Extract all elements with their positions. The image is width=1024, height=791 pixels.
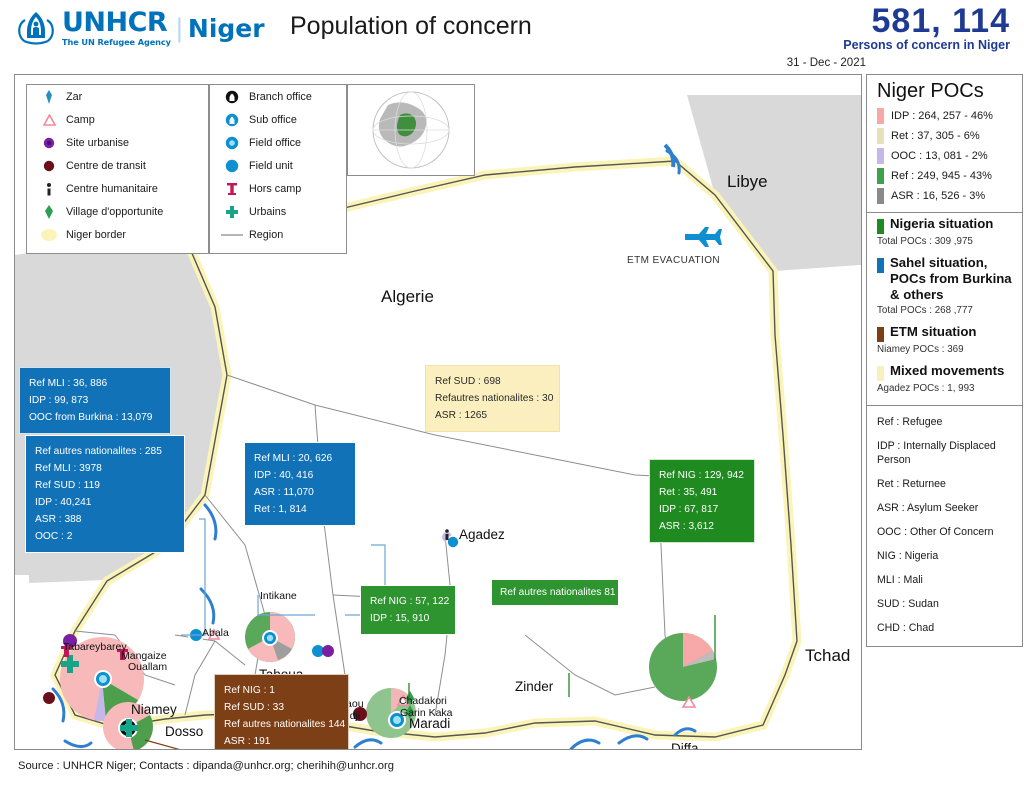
situation-swatch [877, 219, 884, 234]
city-label-dosso: Dosso [165, 724, 203, 739]
legend-label: Centre humanitaire [66, 183, 158, 195]
callout-line: OOC from Burkina : 13,079 [29, 409, 161, 426]
legend-item-branch-office: Branch office [210, 85, 346, 108]
logo-org-text: UNHCR [62, 9, 171, 36]
abbreviation-ret: Ret : Returnee [867, 472, 1022, 496]
legend-item-sub-office: Sub office [210, 108, 346, 131]
branch-office-icon [221, 90, 243, 104]
humanitarian-dot-icon [38, 182, 60, 196]
callout-line: Ref autres nationalites 144 [224, 716, 339, 733]
situation-swatch [877, 327, 884, 342]
camp-triangle-icon [38, 114, 60, 126]
city-label-garin-kaka: Garin Kaka [400, 707, 453, 719]
poc-swatch [877, 108, 884, 124]
callout-line: Ret : 35, 491 [659, 484, 745, 501]
situation-sahel: Sahel situation, POCs from Burkina & oth… [867, 252, 1022, 303]
page-title: Population of concern [290, 12, 532, 41]
poc-swatch [877, 148, 884, 164]
total-poc-number: 581, 114 [872, 2, 1010, 41]
city-label-niamey: Niamey [131, 702, 177, 717]
abbreviation-nig: NIG : Nigeria [867, 544, 1022, 568]
situation-label: Mixed movements [890, 363, 1004, 379]
poc-row-ooc: OOC : 13, 081 - 2% [867, 146, 1022, 166]
callout-line: ASR : 1265 [435, 407, 550, 424]
poc-row-asr: ASR : 16, 526 - 3% [867, 186, 1022, 206]
legend-label: Urbains [249, 206, 286, 218]
situation-swatch [877, 258, 884, 273]
legend-item-region: Region [210, 223, 346, 246]
situation-total: Total POCs : 309 ,975 [867, 234, 1022, 252]
situation-label: ETM situation [890, 324, 976, 340]
pin-marker-icon [38, 90, 60, 104]
sub-office-icon [221, 113, 243, 127]
callout-line: ASR : 11,070 [254, 484, 346, 501]
legend-label: Field unit [249, 160, 293, 172]
callout-line: Refautres nationalites : 30 [435, 390, 550, 407]
callout-line: Ret : 1, 814 [254, 501, 346, 518]
region-line-icon [221, 232, 243, 238]
callout-line: IDP : 67, 817 [659, 501, 745, 518]
callout-line: ASR : 3,612 [659, 518, 745, 535]
callout-line: Ref NIG : 57, 122 [370, 593, 446, 610]
callout-tahoua[interactable]: Ref MLI : 20, 626 IDP : 40, 416 ASR : 11… [244, 442, 356, 526]
city-label-zinder: Zinder [515, 679, 553, 694]
abbreviation-ooc: OOC : Other Of Concern [867, 520, 1022, 544]
legend-column-a: Zar Camp Site urbanise Centre de transit… [26, 84, 209, 254]
abbreviation-idp: IDP : Internally Displaced Person [867, 434, 1022, 472]
legend-label: Region [249, 229, 283, 241]
callout-maradi[interactable]: Ref NIG : 57, 122 IDP : 15, 910 [360, 585, 456, 635]
situation-total: Agadez POCs : 1, 993 [867, 381, 1022, 399]
situation-total: Niamey POCs : 369 [867, 342, 1022, 360]
callout-line: Ref MLI : 20, 626 [254, 450, 346, 467]
legend-label: Hors camp [249, 183, 301, 195]
legend-item-urbains: Urbains [210, 200, 346, 223]
callout-line: Ref NIG : 1 [224, 682, 339, 699]
legend-label: Zar [66, 91, 82, 103]
report-date: 31 - Dec - 2021 [787, 57, 866, 69]
poc-swatch [877, 188, 884, 204]
legend-item-site-urbanise: Site urbanise [27, 131, 208, 154]
situation-label: Nigeria situation [890, 216, 993, 232]
poc-label: Ret : 37, 305 - 6% [891, 130, 980, 142]
diffa-pie-chart [649, 633, 717, 701]
callout-line: IDP : 15, 910 [370, 610, 446, 627]
situation-mixed-movements: Mixed movements [867, 360, 1022, 381]
situation-total: Total POCs : 268 ,777 [867, 303, 1022, 321]
city-label-tabareybarey: Tabareybarey [63, 641, 127, 653]
poc-row-ref: Ref : 249, 945 - 43% [867, 166, 1022, 186]
total-poc-caption: Persons of concern in Niger [843, 38, 1010, 52]
callout-niamey-etm[interactable]: Ref NIG : 1 Ref SUD : 33 Ref autres nati… [214, 674, 349, 750]
annotation-etm-evacuation: ETM EVACUATION [627, 255, 720, 266]
legend-item-centre-de-transit: Centre de transit [27, 154, 208, 177]
callout-tillaberi-south[interactable]: Ref autres nationalites : 285 Ref MLI : … [25, 435, 185, 553]
city-label-ouallam: Ouallam [128, 661, 167, 673]
poc-row-ret: Ret : 37, 305 - 6% [867, 126, 1022, 146]
callout-agadez[interactable]: Ref SUD : 698 Refautres nationalites : 3… [425, 365, 560, 432]
sidebar-title: Niger POCs [867, 75, 1022, 106]
legend-item-hors-camp: Hors camp [210, 177, 346, 200]
poc-swatch [877, 168, 884, 184]
callout-line: IDP : 99, 873 [29, 392, 161, 409]
city-label-chadakori: Chadakori [399, 695, 447, 707]
callout-line: Ref autres nationalites 81 [500, 584, 610, 601]
city-label-diffa: Diffa [671, 741, 699, 750]
poc-row-idp: IDP : 264, 257 - 46% [867, 106, 1022, 126]
country-label-tchad: Tchad [805, 646, 850, 666]
logo-country-text: Niger [188, 16, 265, 41]
callout-line: ASR : 388 [35, 511, 175, 528]
poc-swatch [877, 128, 884, 144]
legend-item-camp: Camp [27, 108, 208, 131]
poc-label: Ref : 249, 945 - 43% [891, 170, 992, 182]
callout-zinder[interactable]: Ref autres nationalites 81 [491, 579, 619, 606]
callout-line: Ref MLI : 3978 [35, 460, 175, 477]
poc-label: OOC : 13, 081 - 2% [891, 150, 988, 162]
poc-breakdown-section: Niger POCs IDP : 264, 257 - 46% Ret : 37… [866, 74, 1023, 213]
map-panel[interactable]: Zar Camp Site urbanise Centre de transit… [14, 74, 862, 750]
abbreviation-asr: ASR : Asylum Seeker [867, 496, 1022, 520]
abbreviation-ref: Ref : Refugee [867, 410, 1022, 434]
situation-swatch [877, 366, 884, 381]
callout-tillaberi-north[interactable]: Ref MLI : 36, 886 IDP : 99, 873 OOC from… [19, 367, 171, 434]
legend-item-field-unit: Field unit [210, 154, 346, 177]
field-office-icon [221, 136, 243, 150]
callout-line: Ref NIG : 129, 942 [659, 467, 745, 484]
situation-label: Sahel situation, POCs from Burkina & oth… [890, 255, 1016, 303]
poc-label: IDP : 264, 257 - 46% [891, 110, 993, 122]
logo-divider: | [176, 15, 183, 42]
legend-item-village-opportunite: Village d'opportunite [27, 200, 208, 223]
poc-label: ASR : 16, 526 - 3% [891, 190, 985, 202]
callout-line: OOC : 2 [35, 528, 175, 545]
border-band-icon [38, 228, 60, 242]
legend-label: Niger border [66, 229, 126, 241]
page-header: UNHCR The UN Refugee Agency | Niger Popu… [0, 0, 1024, 66]
abbreviation-mli: MLI : Mali [867, 568, 1022, 592]
situation-nigeria: Nigeria situation [867, 213, 1022, 234]
abbreviation-sud: SUD : Sudan [867, 592, 1022, 616]
abbreviation-chd: CHD : Chad [867, 616, 1022, 640]
callout-line: Ref autres nationalites : 285 [35, 443, 175, 460]
legend-label: Village d'opportunite [66, 206, 163, 218]
legend-label: Site urbanise [66, 137, 129, 149]
legend-label: Centre de transit [66, 160, 146, 172]
callout-line: IDP : 40,241 [35, 494, 175, 511]
field-unit-icon [221, 159, 243, 173]
country-label-algerie: Algerie [381, 287, 434, 307]
village-diamond-icon [38, 205, 60, 219]
callout-line: ASR : 191 [224, 733, 339, 750]
situations-section: Nigeria situation Total POCs : 309 ,975 … [866, 213, 1023, 406]
abbreviations-section: Ref : Refugee IDP : Internally Displaced… [866, 406, 1023, 647]
transit-circle-icon [38, 160, 60, 172]
legend-item-zar: Zar [27, 85, 208, 108]
legend-item-niger-border: Niger border [27, 223, 208, 246]
statistics-sidebar: Niger POCs IDP : 264, 257 - 46% Ret : 37… [866, 74, 1023, 750]
unhcr-emblem-icon [14, 8, 58, 48]
globe-locator-icon [348, 85, 474, 175]
callout-diffa[interactable]: Ref NIG : 129, 942 Ret : 35, 491 IDP : 6… [649, 459, 755, 543]
callout-line: Ref SUD : 698 [435, 373, 550, 390]
callout-line: IDP : 40, 416 [254, 467, 346, 484]
unhcr-logo: UNHCR The UN Refugee Agency | Niger [14, 8, 265, 48]
legend-item-field-office: Field office [210, 131, 346, 154]
callout-line: Ref SUD : 33 [224, 699, 339, 716]
source-footer: Source : UNHCR Niger; Contacts : dipanda… [18, 760, 394, 772]
logo-tagline: The UN Refugee Agency [62, 37, 171, 47]
city-label-abala: Abala [202, 627, 229, 639]
country-label-libye: Libye [727, 172, 768, 192]
urbains-cross-icon [221, 205, 243, 219]
legend-label: Sub office [249, 114, 297, 126]
legend-label: Branch office [249, 91, 312, 103]
site-circle-icon [38, 137, 60, 149]
legend-label: Camp [66, 114, 95, 126]
legend-label: Field office [249, 137, 301, 149]
legend-item-centre-humanitaire: Centre humanitaire [27, 177, 208, 200]
globe-inset [347, 84, 475, 176]
callout-line: Ref SUD : 119 [35, 477, 175, 494]
callout-line: Ref MLI : 36, 886 [29, 375, 161, 392]
city-label-agadez: Agadez [459, 527, 505, 542]
city-label-intikane: Intikane [260, 590, 297, 602]
situation-etm: ETM situation [867, 321, 1022, 342]
legend-column-b: Branch office Sub office Field office Fi… [209, 84, 347, 254]
hors-camp-pin-icon [221, 182, 243, 196]
